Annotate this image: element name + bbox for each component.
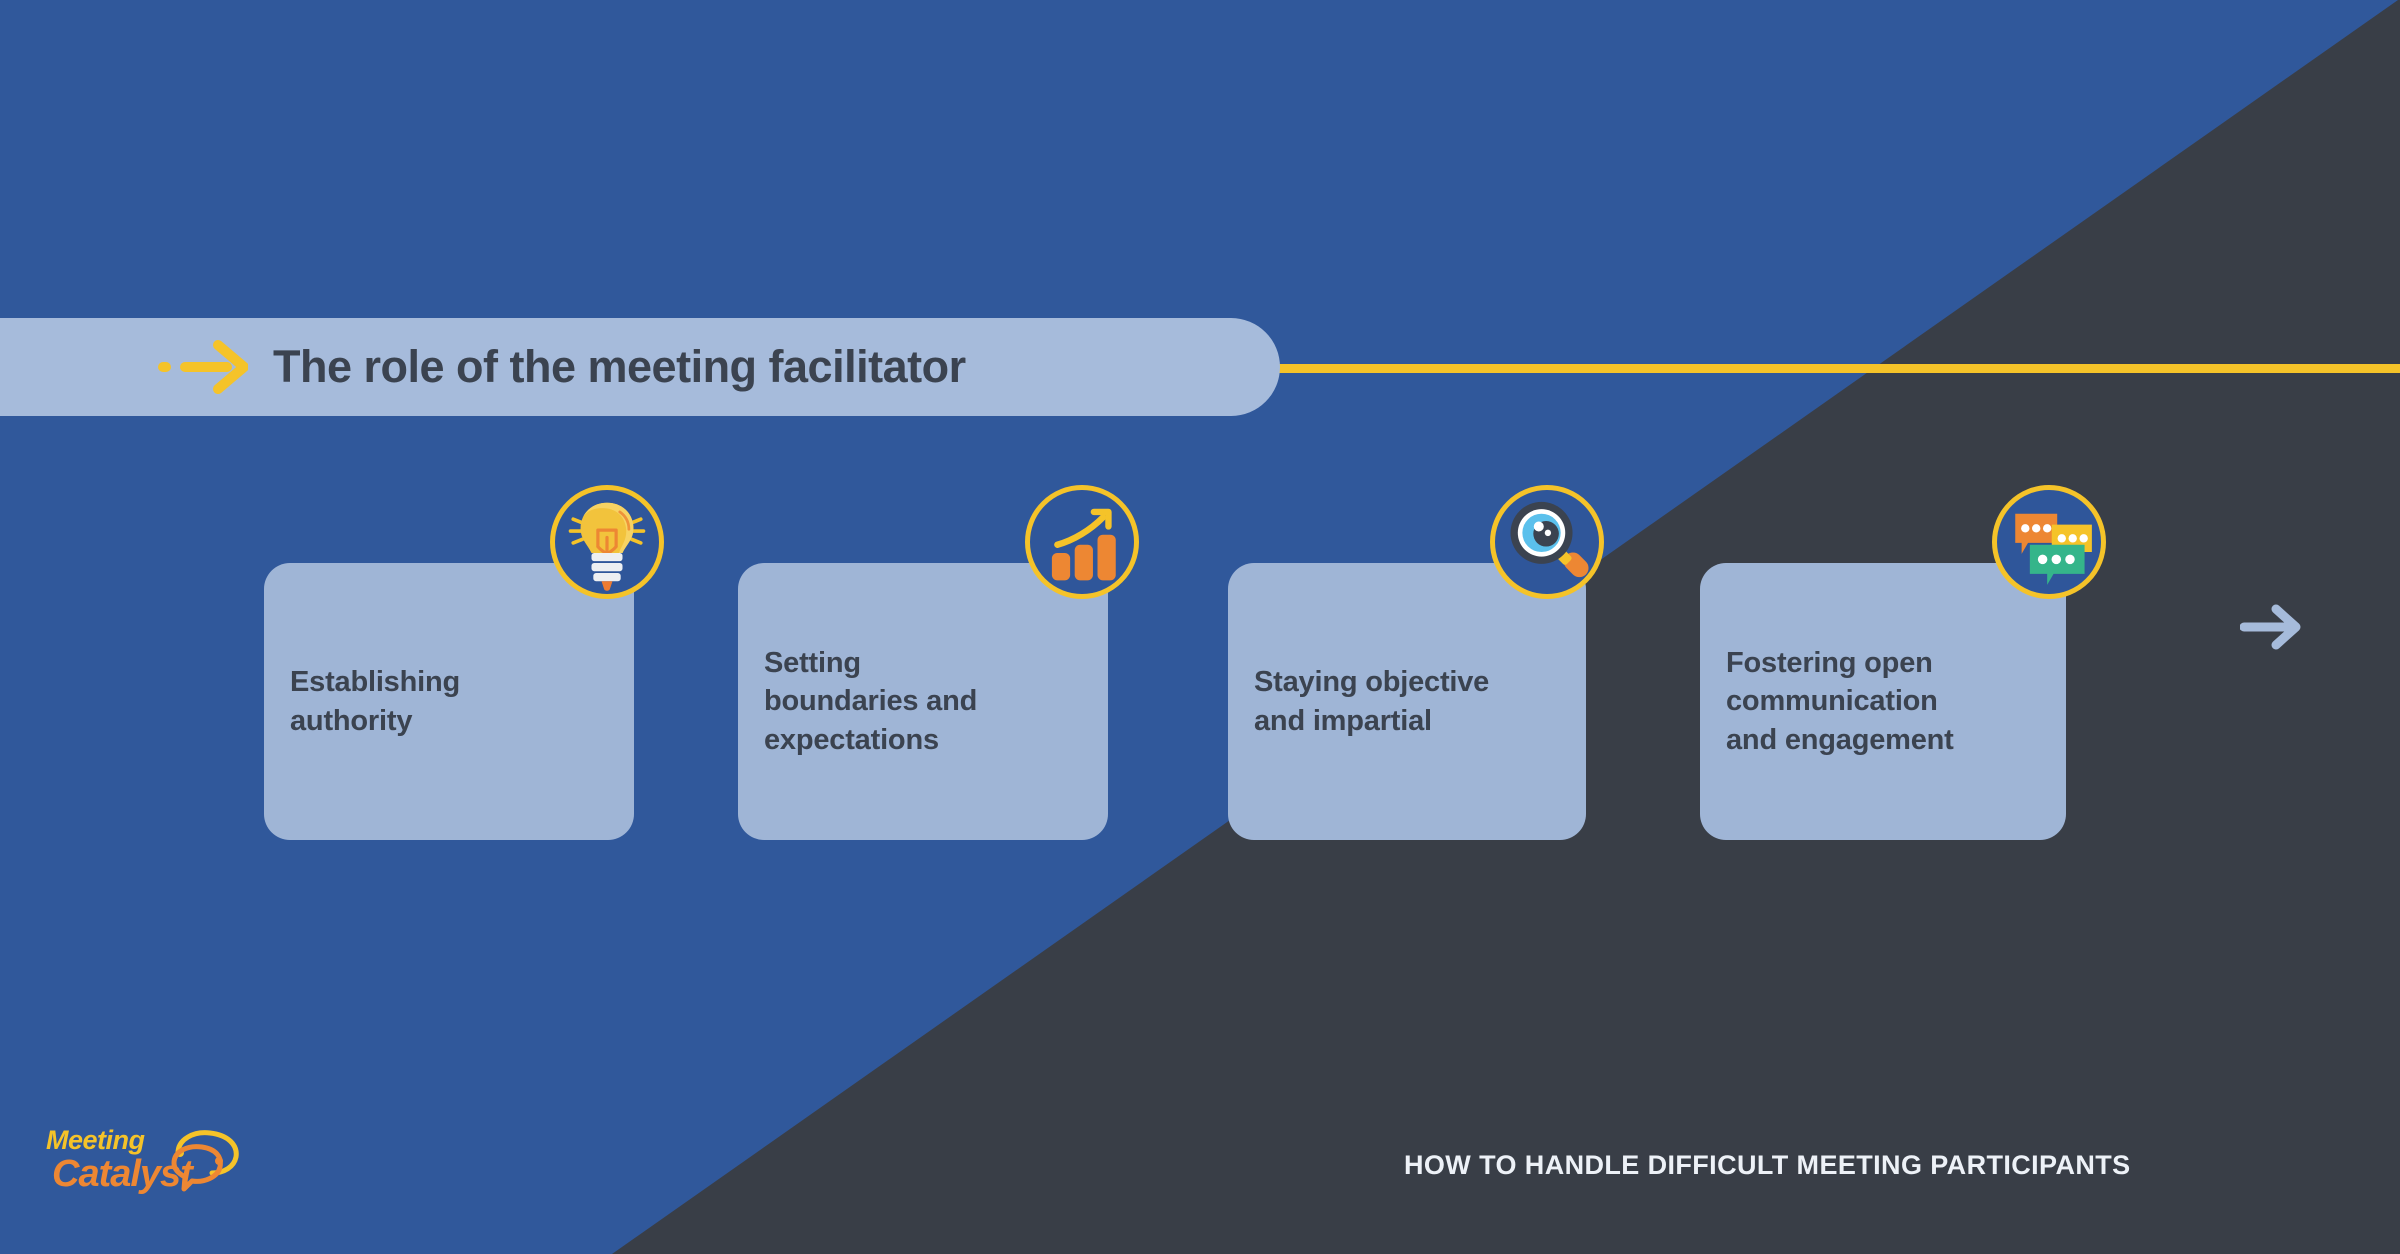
magnifier-eye-icon (1490, 485, 1604, 599)
card-label: Establishing authority (264, 663, 486, 740)
card-fostering-open-communication[interactable]: Fostering open communication and engagem… (1700, 563, 2066, 840)
logo-line-meeting: Meeting (46, 1125, 145, 1156)
title-pill: The role of the meeting facilitator (0, 318, 1280, 416)
speech-bubble-swoosh-icon (158, 1127, 244, 1193)
brand-logo[interactable]: Meeting Catalyst (46, 1125, 236, 1203)
arrow-right-icon[interactable] (2240, 602, 2302, 652)
card-setting-boundaries[interactable]: Setting boundaries and expectations (738, 563, 1108, 840)
card-label: Staying objective and impartial (1228, 663, 1515, 740)
slide-canvas: The role of the meeting facilitator Esta… (0, 0, 2400, 1254)
footer-title: HOW TO HANDLE DIFFICULT MEETING PARTICIP… (1404, 1150, 2131, 1181)
chat-bubbles-icon (1992, 485, 2106, 599)
dashed-arrow-right-icon (158, 340, 248, 394)
page-title: The role of the meeting facilitator (273, 318, 966, 416)
lightbulb-icon (550, 485, 664, 599)
card-label: Setting boundaries and expectations (738, 644, 1003, 760)
card-label: Fostering open communication and engagem… (1700, 644, 1980, 760)
card-establishing-authority[interactable]: Establishing authority (264, 563, 634, 840)
growth-bar-chart-icon (1025, 485, 1139, 599)
card-staying-objective[interactable]: Staying objective and impartial (1228, 563, 1586, 840)
